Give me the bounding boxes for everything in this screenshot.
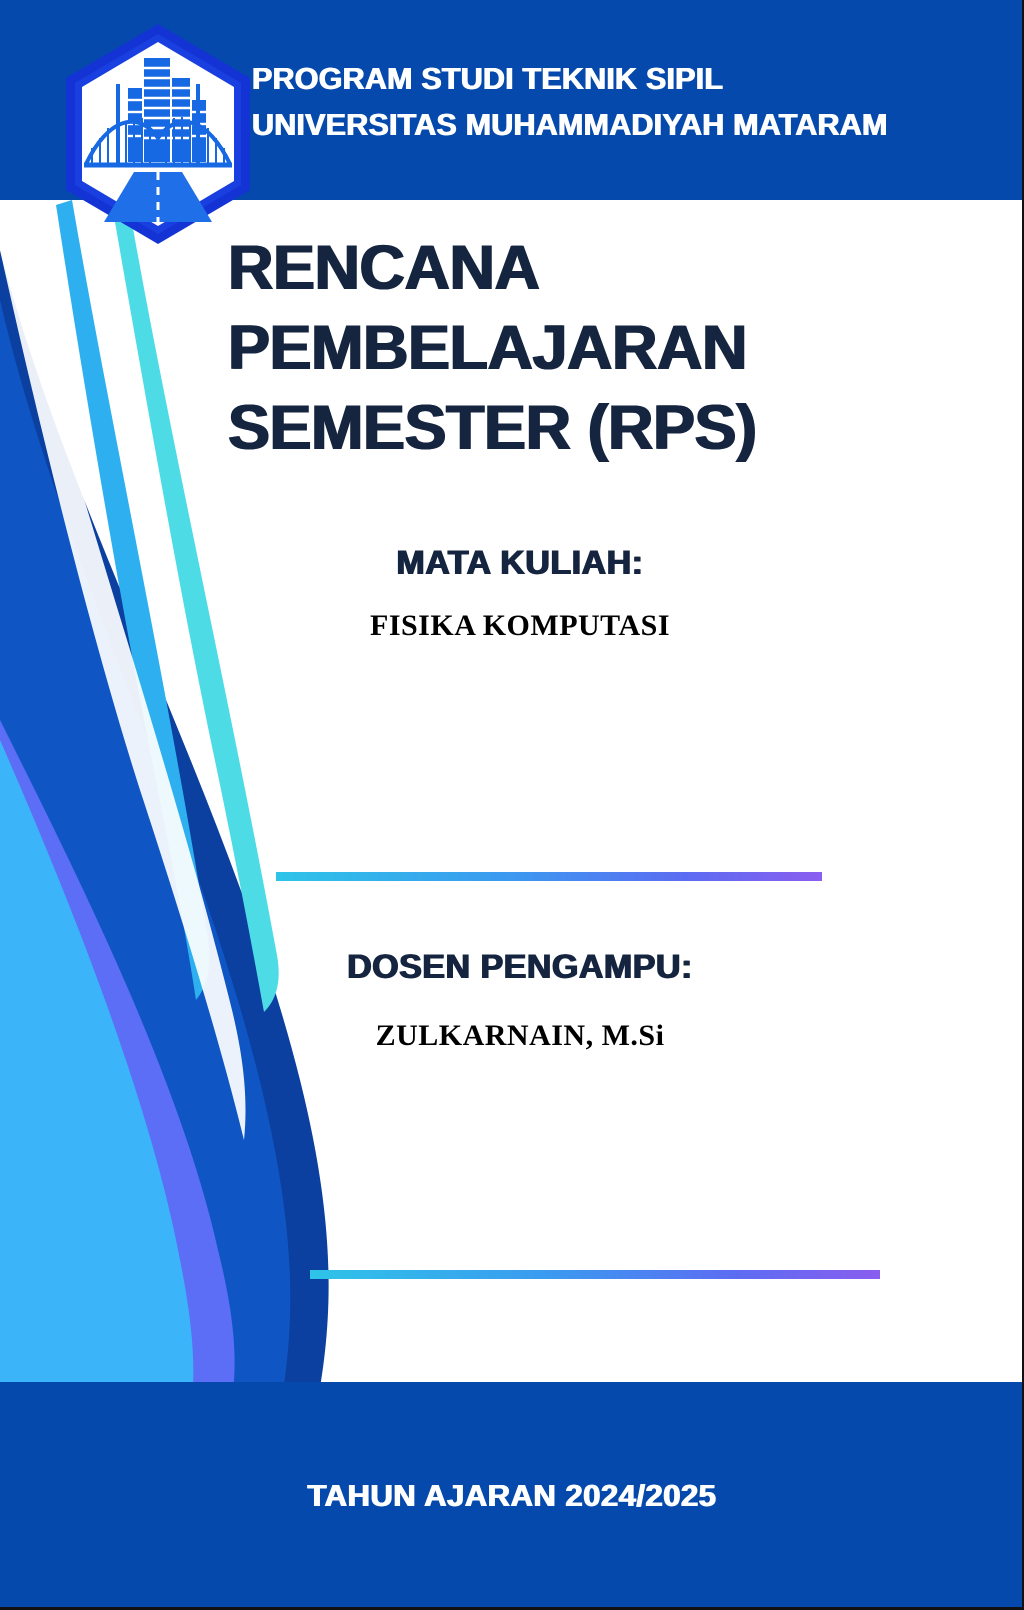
course-block: MATA KULIAH: FISIKA KOMPUTASI	[170, 544, 870, 643]
lecturer-block: DOSEN PENGAMPU: ZULKARNAIN, M.Si	[170, 948, 870, 1053]
document-title: RENCANA PEMBELAJARAN SEMESTER (RPS)	[228, 228, 988, 468]
institution-line-2: UNIVERSITAS MUHAMMADIYAH MATARAM	[252, 102, 992, 148]
divider-top	[276, 872, 822, 881]
divider-bottom	[310, 1270, 880, 1279]
course-label: MATA KULIAH:	[170, 544, 870, 583]
course-name: FISIKA KOMPUTASI	[170, 609, 870, 643]
rps-cover-page: PROGRAM STUDI TEKNIK SIPIL UNIVERSITAS M…	[0, 0, 1024, 1610]
institution-line-1: PROGRAM STUDI TEKNIK SIPIL	[252, 56, 992, 102]
document-title-line-2: PEMBELAJARAN	[228, 308, 988, 388]
civil-engineering-hexagon-logo	[62, 22, 254, 246]
institution-heading: PROGRAM STUDI TEKNIK SIPIL UNIVERSITAS M…	[252, 56, 992, 148]
document-title-line-3: SEMESTER (RPS)	[228, 388, 988, 468]
lecturer-label: DOSEN PENGAMPU:	[170, 948, 870, 987]
document-title-line-1: RENCANA	[228, 228, 988, 308]
academic-year: TAHUN AJARAN 2024/2025	[0, 1478, 1024, 1514]
lecturer-name: ZULKARNAIN, M.Si	[170, 1019, 870, 1053]
